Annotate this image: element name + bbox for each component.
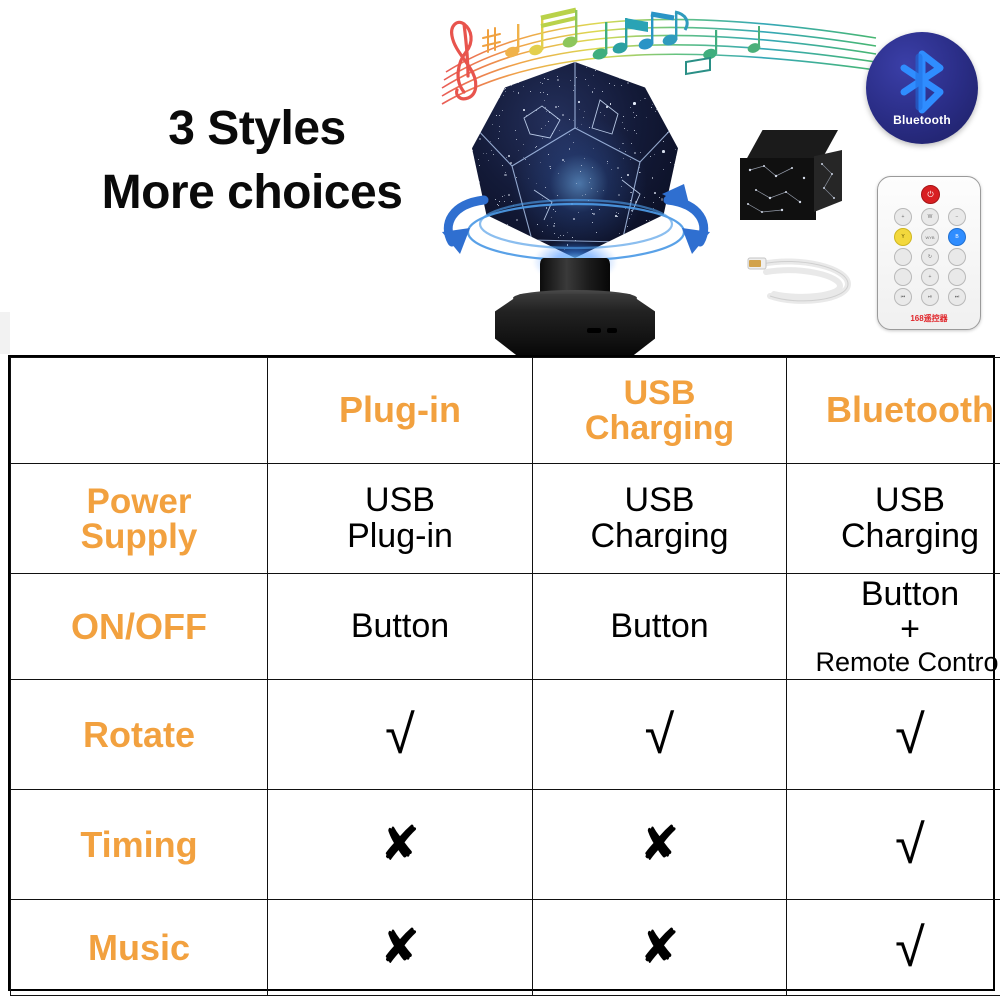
cell-line: Charging — [791, 519, 1000, 555]
star — [664, 107, 665, 108]
star — [506, 85, 507, 86]
star — [494, 74, 495, 75]
header-line: Bluetooth — [791, 392, 1000, 429]
cell-line: Button — [537, 609, 782, 645]
remote-button-speed-up[interactable]: + — [921, 268, 939, 286]
hero-section: 3 Styles More choices — [0, 0, 1000, 352]
cell-line: Button — [272, 609, 528, 645]
star — [473, 100, 474, 101]
row-label-power-supply: PowerSupply — [11, 464, 268, 574]
cell-line: Remote Control — [791, 648, 1000, 676]
star — [487, 94, 488, 95]
star — [642, 75, 644, 77]
box-side-print — [814, 150, 842, 212]
star — [534, 75, 535, 76]
cell-line: USB — [537, 483, 782, 519]
box-constellation-print — [740, 158, 816, 220]
star — [630, 78, 631, 79]
star — [483, 117, 484, 118]
star — [627, 67, 628, 68]
row-label-line: Rotate — [15, 717, 263, 753]
check-icon: √ — [791, 921, 1000, 975]
cell-text: Button — [272, 609, 528, 645]
cell-line: USB — [272, 483, 528, 519]
comparison-table: Plug-in USBCharging Bluetooth PowerSuppl… — [8, 355, 995, 991]
remote-button-prev[interactable]: ⏮ — [894, 288, 912, 306]
infographic-root: 3 Styles More choices — [0, 0, 1000, 1000]
remote-button-wyb[interactable]: WYB — [921, 228, 939, 246]
usb-port — [587, 328, 601, 333]
star — [653, 87, 654, 88]
star — [664, 62, 665, 63]
cross-icon: ✘ — [272, 821, 528, 869]
check-icon: √ — [272, 708, 528, 762]
star — [535, 68, 536, 69]
star — [664, 69, 667, 72]
column-header-usb-charging-label: USBCharging — [537, 376, 782, 445]
star-projector-lamp — [440, 62, 710, 352]
row-label-text: Music — [15, 930, 263, 966]
headline-line-2: More choices — [52, 168, 452, 218]
star — [497, 85, 498, 86]
page-title: 3 Styles More choices — [52, 104, 452, 219]
column-header-plug-in-label: Plug-in — [272, 392, 528, 429]
table-cell: Button — [268, 574, 533, 680]
row-label-line: Timing — [15, 827, 263, 863]
star — [674, 63, 675, 64]
star — [480, 78, 481, 79]
cell-text: USBPlug-in — [272, 483, 528, 554]
star — [522, 72, 523, 73]
remote-button-play-pause[interactable]: ⏯ — [921, 288, 939, 306]
star — [552, 66, 553, 67]
power-port — [607, 328, 617, 333]
row-label-line: Supply — [15, 519, 263, 554]
star — [520, 63, 521, 64]
column-header-bluetooth: Bluetooth — [787, 358, 1000, 464]
cell-line: USB — [791, 483, 1000, 519]
remote-button-w[interactable]: W — [921, 208, 939, 226]
remote-button-next[interactable]: ⏭ — [948, 288, 966, 306]
column-header-usb-charging: USBCharging — [533, 358, 787, 464]
table-cell: ✘ — [533, 790, 787, 900]
star — [477, 104, 478, 105]
table-cell: √ — [787, 680, 1000, 790]
remote-button-r3c1[interactable] — [894, 248, 912, 266]
star — [473, 175, 474, 176]
check-icon: √ — [791, 708, 1000, 762]
star — [619, 65, 620, 66]
lamp-base — [495, 294, 655, 356]
row-label-on-off: ON/OFF — [11, 574, 268, 680]
star — [647, 68, 649, 70]
star — [628, 75, 629, 76]
table-row: Rotate√√√ — [11, 680, 1000, 790]
star — [475, 68, 476, 69]
remote-button-timer-30min[interactable] — [948, 268, 966, 286]
star — [494, 88, 495, 89]
star — [500, 64, 502, 66]
star — [557, 64, 558, 65]
star — [506, 63, 509, 66]
constellation-gift-box — [740, 130, 850, 230]
spec-table: Plug-in USBCharging Bluetooth PowerSuppl… — [10, 357, 1000, 996]
star — [494, 93, 495, 94]
star — [673, 99, 676, 102]
star — [654, 78, 655, 79]
table-cell: USBCharging — [787, 464, 1000, 574]
row-label-text: Timing — [15, 827, 263, 863]
star — [502, 91, 503, 92]
row-label-line: ON/OFF — [15, 609, 263, 645]
star — [666, 92, 667, 93]
remote-button-minus[interactable]: − — [948, 208, 966, 226]
cell-text: USBCharging — [537, 483, 782, 554]
table-cell: √ — [787, 900, 1000, 996]
star — [490, 90, 491, 91]
star — [491, 62, 492, 63]
column-header-plug-in: Plug-in — [268, 358, 533, 464]
row-label-timing: Timing — [11, 790, 268, 900]
star — [498, 65, 500, 67]
star — [662, 97, 663, 98]
table-row: Music✘✘√ — [11, 900, 1000, 996]
star — [486, 73, 487, 74]
table-row: PowerSupplyUSBPlug-inUSBChargingUSBCharg… — [11, 464, 1000, 574]
bluetooth-icon — [866, 32, 978, 144]
row-label-rotate: Rotate — [11, 680, 268, 790]
cell-text: Button+Remote Control — [791, 577, 1000, 677]
cell-line: Button — [791, 577, 1000, 613]
remote-button-b[interactable]: B — [948, 228, 966, 246]
cross-icon: ✘ — [272, 924, 528, 972]
remote-button-timer-10min[interactable] — [894, 268, 912, 286]
table-cell: USBPlug-in — [268, 464, 533, 574]
header-line: USB — [537, 376, 782, 411]
hero-edge-band — [0, 312, 10, 354]
ir-remote-control: ⏻ + W − Y WYB B ↻ + ⏮ ⏯ ⏭ 168遥控器 — [877, 176, 981, 330]
box-side-face — [814, 150, 842, 212]
table-cell: USBCharging — [533, 464, 787, 574]
star — [485, 68, 486, 69]
row-label-line: Power — [15, 484, 263, 519]
table-cell: √ — [533, 680, 787, 790]
remote-button-r3c2[interactable]: ↻ — [921, 248, 939, 266]
row-label-text: PowerSupply — [15, 484, 263, 554]
header-line: Charging — [537, 411, 782, 446]
bluetooth-badge-label: Bluetooth — [866, 113, 978, 127]
row-label-text: ON/OFF — [15, 609, 263, 645]
bluetooth-badge: Bluetooth — [866, 32, 978, 144]
usb-charging-cable — [744, 250, 864, 312]
headline-line-1: 3 Styles — [52, 104, 452, 154]
table-header-row: Plug-in USBCharging Bluetooth — [11, 358, 1000, 464]
cross-icon: ✘ — [537, 924, 782, 972]
table-cell: Button+Remote Control — [787, 574, 1000, 680]
star — [665, 80, 666, 81]
star — [473, 102, 474, 103]
table-cell: √ — [787, 790, 1000, 900]
table-cell: ✘ — [268, 900, 533, 996]
remote-button-plus[interactable]: + — [894, 208, 912, 226]
cross-icon: ✘ — [537, 821, 782, 869]
table-cell: ✘ — [533, 900, 787, 996]
row-label-music: Music — [11, 900, 268, 996]
row-label-text: Rotate — [15, 717, 263, 753]
star — [488, 83, 489, 84]
cell-text: Button — [537, 609, 782, 645]
column-header-bluetooth-label: Bluetooth — [791, 392, 1000, 429]
table-row: Timing✘✘√ — [11, 790, 1000, 900]
cell-line: + — [791, 612, 1000, 648]
star — [666, 80, 667, 81]
table-cell: ✘ — [268, 790, 533, 900]
row-label-line: Music — [15, 930, 263, 966]
header-line: Plug-in — [272, 392, 528, 429]
star — [667, 127, 668, 128]
table-cell: Button — [533, 574, 787, 680]
star — [537, 74, 538, 75]
star — [675, 127, 676, 128]
box-front-face — [740, 158, 816, 220]
table-row: ON/OFFButtonButtonButton+Remote Control — [11, 574, 1000, 680]
check-icon: √ — [537, 708, 782, 762]
power-button[interactable]: ⏻ — [921, 185, 940, 204]
star — [474, 66, 476, 68]
cell-text: USBCharging — [791, 483, 1000, 554]
cell-line: Charging — [537, 519, 782, 555]
check-icon: √ — [791, 818, 1000, 872]
remote-button-y[interactable]: Y — [894, 228, 912, 246]
star — [481, 75, 482, 76]
remote-button-r3c3[interactable] — [948, 248, 966, 266]
star — [477, 92, 479, 94]
remote-model-label: 168遥控器 — [878, 313, 980, 324]
table-corner-cell — [11, 358, 268, 464]
table-cell: √ — [268, 680, 533, 790]
cell-line: Plug-in — [272, 519, 528, 555]
